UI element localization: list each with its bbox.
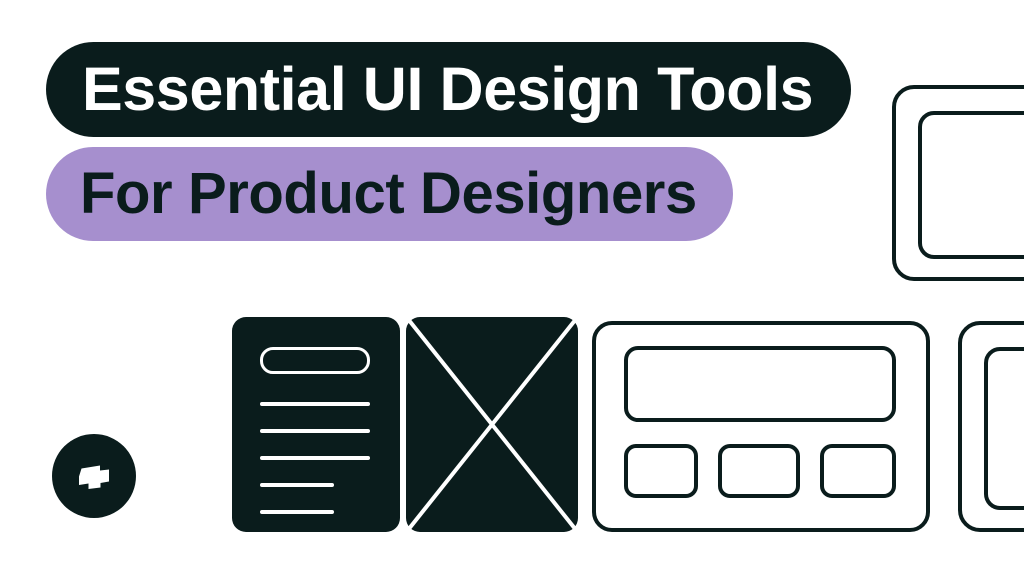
wireframe-text-line <box>260 402 370 406</box>
wireframe-screen-area <box>918 111 1024 259</box>
wireframe-device-frame-top <box>892 85 1024 281</box>
wireframe-layout-card <box>592 321 930 532</box>
wireframe-text-line <box>260 510 334 514</box>
wireframe-text-line <box>260 483 334 487</box>
wireframe-device-frame-right <box>958 321 1024 532</box>
wireframe-screen-area <box>984 347 1024 510</box>
wireframe-text-line <box>260 429 370 433</box>
wireframe-content-card <box>232 317 400 532</box>
wireframe-image-placeholder <box>406 317 578 532</box>
brand-badge <box>52 434 136 518</box>
wireframe-search-field <box>260 347 370 374</box>
lightning-bolt-icon <box>70 452 118 500</box>
poster-canvas: Essential UI Design Tools For Product De… <box>0 0 1024 576</box>
wireframe-text-line <box>260 456 370 460</box>
wireframe-tile <box>624 444 698 498</box>
headline-line-1: Essential UI Design Tools <box>82 59 813 120</box>
wireframe-tile <box>718 444 800 498</box>
wireframe-hero-region <box>624 346 896 422</box>
wireframe-tile <box>820 444 896 498</box>
headline-pill-primary: Essential UI Design Tools <box>46 42 851 137</box>
headline-pill-secondary: For Product Designers <box>46 147 733 241</box>
headline-line-2: For Product Designers <box>80 165 697 223</box>
